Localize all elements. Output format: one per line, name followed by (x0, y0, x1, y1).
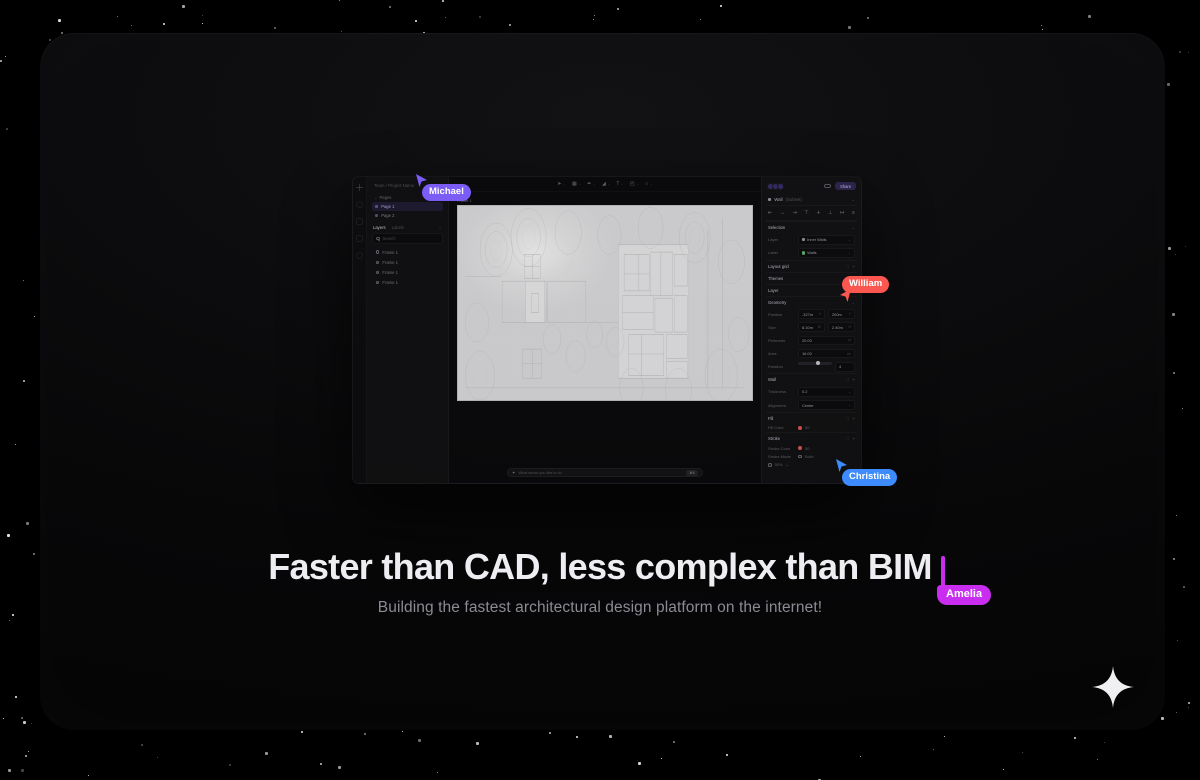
page-item-label: Page 1 (381, 204, 394, 209)
star (157, 757, 158, 758)
layer-swatch (802, 238, 805, 241)
search-icon (376, 237, 380, 241)
chevron-down-icon: ⌄ (848, 238, 851, 242)
field-area[interactable]: Area 16.00 m² (766, 347, 857, 360)
avatar-group[interactable] (767, 183, 784, 190)
chevron-down-icon[interactable]: ⌄ (786, 462, 789, 467)
field-value[interactable]: Inner Walls ⌄ (798, 235, 855, 245)
add-icon[interactable] (356, 184, 363, 191)
align-bottom-icon[interactable]: ⊥ (828, 210, 832, 216)
section-title: Themes (768, 276, 783, 281)
star (617, 8, 619, 10)
star (341, 31, 342, 32)
star (638, 762, 641, 765)
star (6, 128, 8, 130)
star (202, 23, 203, 24)
move-icon: ➤ (557, 182, 561, 187)
star (59, 21, 60, 22)
image-icon: ◰ (630, 182, 635, 187)
star (26, 522, 29, 525)
star (364, 733, 366, 735)
grid-options-icon[interactable]: ∷ (846, 377, 849, 382)
field-value[interactable]: Walls ⌄ (798, 248, 855, 258)
perimeter-input[interactable]: 20.00 m (798, 336, 855, 346)
star (476, 742, 479, 745)
object-title: Wall (774, 197, 782, 202)
chevron-down-icon: ⌄ (636, 182, 639, 186)
share-button[interactable]: Share (835, 182, 856, 190)
star (415, 20, 417, 22)
star (1168, 247, 1171, 250)
star (15, 444, 16, 445)
text-icon: T (616, 182, 619, 187)
comment-icon: ○ (645, 182, 648, 187)
section-title: Layer (768, 288, 778, 293)
align-center-h-icon[interactable]: ↔ (780, 210, 785, 216)
page-item-2[interactable]: Page 2 (372, 211, 443, 220)
section-title: Stroke (768, 436, 780, 441)
page-icon (375, 205, 378, 208)
list-item[interactable]: Frame 1 (372, 267, 443, 277)
section-title: Selection (768, 225, 785, 230)
panel-tabs: Layers Labels ⌄ (373, 225, 442, 230)
align-right-icon[interactable]: ⇥ (792, 210, 796, 216)
chevron-down-icon: ⌄ (563, 182, 566, 186)
field-label: Label (768, 250, 798, 255)
frame-icon (376, 261, 379, 264)
star (933, 749, 934, 750)
image-tool[interactable]: ◰⌄ (630, 182, 639, 187)
cursor-christina: Christina (835, 458, 849, 479)
field-rotation[interactable]: Rotation 4 (766, 360, 857, 373)
star (389, 6, 391, 8)
right-panel-header: Share (766, 181, 857, 194)
star (141, 744, 143, 746)
field-label: Rotation (768, 364, 798, 369)
star (576, 736, 578, 738)
star (131, 25, 132, 26)
field-unit: H (849, 325, 851, 329)
frame-label: Frame 1 (457, 198, 753, 203)
star (479, 16, 481, 18)
star (1175, 254, 1176, 255)
field-value-text: 0.2 (802, 389, 807, 394)
chevron-down-icon: ⌄ (607, 182, 610, 186)
section-title: Fill (768, 416, 773, 421)
star (609, 735, 612, 738)
target-icon[interactable] (356, 201, 363, 208)
rotation-input[interactable]: 4 (835, 362, 855, 372)
layer-label: Frame 1 (382, 270, 398, 275)
star (944, 736, 945, 737)
hero-copy: Faster than CAD, less complex than BIM B… (0, 546, 1200, 617)
selected-object-header[interactable]: Wall (Subset) ⌄ (766, 194, 857, 206)
field-label: Fill Color (768, 425, 798, 430)
star (1042, 29, 1043, 30)
field-unit: Y (849, 312, 851, 316)
label-swatch (802, 251, 805, 254)
star (720, 5, 722, 7)
field-value-text: 2.40m (832, 325, 843, 330)
star (23, 380, 25, 382)
star (202, 15, 203, 16)
star (867, 17, 869, 19)
section-selection-header[interactable]: Selection ⌄ (766, 221, 857, 233)
cursor-label-amelia: Amelia (937, 585, 991, 605)
star (320, 763, 322, 765)
star (61, 32, 63, 34)
star (1188, 702, 1190, 704)
field-fill-color[interactable]: Fill Color 50 (766, 424, 857, 432)
search-placeholder: Search (383, 236, 396, 241)
frame-icon: ▦ (572, 182, 577, 187)
fill-opacity-value: 50 (805, 425, 809, 430)
star (593, 19, 594, 20)
layer-label: Frame 1 (382, 280, 398, 285)
star (1041, 25, 1042, 26)
star (1176, 515, 1177, 516)
sparkle-icon: ✦ (512, 470, 516, 475)
list-item[interactable]: Frame 1 (372, 257, 443, 267)
star (445, 17, 446, 18)
star (700, 19, 701, 20)
position-y-input[interactable]: 200m Y (828, 309, 855, 319)
chevron-down-icon: ⌄ (593, 182, 596, 186)
star (1179, 51, 1181, 53)
star (23, 280, 24, 281)
alignment-toolbar: ⇤ ↔ ⇥ ⊤ ∔ ⊥ ↦ ≡ (766, 206, 857, 221)
section-tools: ∷ + (846, 436, 855, 441)
site-plan-drawing (458, 206, 752, 400)
star (21, 717, 23, 719)
star (1097, 759, 1098, 760)
avatar (777, 183, 784, 190)
field-perimeter[interactable]: Perimeter 20.00 m (766, 334, 857, 347)
thickness-input[interactable]: 0.2 ⌄ (798, 387, 855, 397)
section-title: Geometry (768, 300, 786, 305)
section-layout-grid-header[interactable]: Layout grid ∷ + (766, 260, 857, 272)
star (1182, 408, 1183, 409)
object-icon (768, 198, 771, 201)
star (301, 731, 303, 733)
field-thickness[interactable]: Thickness 0.2 ⌄ (766, 385, 857, 398)
field-unit: m² (847, 352, 851, 356)
star (117, 16, 118, 17)
star (88, 775, 89, 776)
add-icon[interactable]: + (853, 436, 855, 441)
field-unit: X (819, 312, 821, 316)
field-value-text: Center (802, 403, 814, 408)
chevron-down-icon[interactable]: ⌄ (852, 225, 855, 230)
star (594, 15, 595, 16)
cursor-label-christina: Christina (842, 469, 897, 486)
star (265, 752, 268, 755)
star (21, 769, 24, 772)
star (182, 5, 185, 8)
page-subtitle: Building the fastest architectural desig… (0, 599, 1200, 617)
star (28, 751, 29, 752)
grid-options-icon[interactable]: ∷ (846, 264, 849, 269)
align-left-icon[interactable]: ⇤ (768, 210, 772, 216)
section-title: Layout grid (768, 264, 789, 269)
toolbar: ➤⌄ ▦⌄ ✒⌄ ◢⌄ T⌄ ◰⌄ ○⌄ (449, 177, 761, 192)
field-label: Alignment (768, 403, 798, 408)
star (229, 764, 231, 766)
ai-prompt-placeholder: What would you like to do (519, 471, 562, 475)
star (442, 0, 444, 2)
add-icon[interactable]: + (853, 264, 855, 269)
star (7, 534, 10, 537)
comment-tool[interactable]: ○⌄ (645, 182, 653, 187)
align-top-icon[interactable]: ⊤ (804, 210, 808, 216)
page-item-label: Page 2 (381, 213, 394, 218)
section-tools: ∷ + (846, 416, 855, 421)
sparkle-four-point-icon (1092, 666, 1134, 708)
field-label: Thickness (768, 389, 798, 394)
canvas-viewport[interactable]: Frame 1 (449, 192, 761, 483)
star (1074, 737, 1076, 739)
field-value-text: 8.10m (802, 325, 813, 330)
chevron-down-icon: ⌄ (848, 251, 851, 255)
opacity-value: 50% (775, 462, 783, 467)
chevron-down-icon: ⌄ (848, 403, 851, 407)
list-item[interactable]: Frame 1 (372, 247, 443, 257)
chevron-down-icon[interactable]: ⌄ (852, 300, 855, 305)
field-label: Size (768, 325, 798, 330)
opacity-icon (768, 463, 772, 467)
field-label: Perimeter (768, 338, 798, 343)
field-unit: W (818, 325, 821, 329)
field-label: Position (768, 312, 798, 317)
list-item[interactable]: Frame 1 (372, 278, 443, 288)
frame-icon (376, 281, 379, 284)
section-title: Wall (768, 377, 776, 382)
tab-labels[interactable]: Labels (392, 225, 404, 230)
star (1185, 246, 1186, 247)
section-tools: ∷ + (846, 377, 855, 382)
ai-prompt-bar[interactable]: ✦ What would you like to do ⌘K (507, 468, 703, 477)
field-value-text: 16.00 (802, 351, 812, 356)
star (1104, 742, 1105, 743)
field-unit: m (848, 338, 851, 342)
star (15, 696, 17, 698)
prompt-shortcut-badge: ⌘K (686, 470, 698, 476)
stroke-color-swatch[interactable] (798, 446, 802, 450)
size-h-input[interactable]: 2.40m H (828, 322, 855, 332)
link-icon[interactable] (824, 184, 831, 188)
star (338, 766, 341, 769)
shape-tool[interactable]: ◢⌄ (602, 182, 610, 187)
star (58, 19, 61, 22)
pages-label: Pages (380, 195, 392, 200)
star (418, 739, 421, 742)
star (9, 620, 10, 621)
star (274, 27, 276, 29)
frame-tool[interactable]: ▦⌄ (572, 182, 581, 187)
move-tool[interactable]: ➤⌄ (557, 182, 566, 187)
tabs-chevron-icon[interactable]: ⌄ (438, 225, 442, 230)
field-label: Stroke Mode (768, 454, 798, 459)
field-value-text: 4 (839, 364, 841, 369)
frame-icon (376, 271, 379, 274)
star (402, 731, 403, 732)
help-icon[interactable] (356, 252, 363, 259)
grid-options-icon[interactable]: ∷ (846, 436, 849, 441)
rotation-slider[interactable] (798, 362, 832, 365)
star (163, 23, 165, 25)
canvas-area: ➤⌄ ▦⌄ ✒⌄ ◢⌄ T⌄ ◰⌄ ○⌄ Frame 1 (449, 177, 761, 483)
star (1003, 769, 1004, 770)
star (1022, 752, 1023, 753)
assets-icon[interactable] (356, 235, 363, 242)
text-tool[interactable]: T⌄ (616, 182, 624, 187)
star (1177, 640, 1178, 641)
pages-chevron-icon: ⌄ (374, 195, 378, 200)
star (1173, 372, 1175, 374)
object-subtitle: (Subset) (786, 197, 802, 202)
star (1172, 313, 1175, 316)
star (1188, 707, 1189, 708)
star (1176, 712, 1177, 713)
add-icon[interactable]: + (853, 416, 855, 421)
grid-options-icon[interactable]: ∷ (846, 416, 849, 421)
section-wall-header[interactable]: Wall ∷ + (766, 373, 857, 385)
layer-label: Frame 1 (382, 250, 398, 255)
page-title: Faster than CAD, less complex than BIM (268, 546, 932, 588)
distribute-h-icon[interactable]: ↦ (840, 210, 844, 216)
stroke-mode-value: Solid (805, 454, 814, 459)
chevron-down-icon: ⌄ (578, 182, 581, 186)
chevron-down-icon: ⌄ (848, 390, 851, 394)
field-alignment[interactable]: Alignment Center ⌄ (766, 398, 857, 411)
stroke-mode-icon (798, 455, 802, 459)
star (437, 772, 438, 773)
stroke-opacity-value: 50 (805, 446, 809, 451)
section-stroke-header[interactable]: Stroke ∷ + (766, 432, 857, 444)
app-mockup: Team / Project Name ⌄ Pages + Page 1 Pag… (352, 176, 862, 484)
star (860, 756, 861, 757)
cursor-michael: Michael (415, 173, 429, 194)
star (3, 718, 4, 719)
field-value-text: -327m (802, 312, 813, 317)
star (726, 754, 728, 756)
field-position[interactable]: Position -327m X 200m Y (766, 308, 857, 321)
star (673, 741, 675, 743)
field-value-text: 20.00 (802, 338, 812, 343)
star (661, 758, 662, 759)
add-icon[interactable]: + (853, 377, 855, 382)
shape-icon: ◢ (602, 182, 606, 187)
field-stroke-color[interactable]: Stroke Color 50 (766, 444, 857, 452)
page-icon (375, 214, 378, 217)
right-panel: Share Wall (Subset) ⌄ ⇤ ↔ ⇥ ⊤ ∔ ⊥ ↦ ≡ Se… (761, 177, 861, 483)
field-label-select[interactable]: Label Walls ⌄ (766, 246, 857, 259)
field-size[interactable]: Size 8.10m W 2.40m H (766, 321, 857, 334)
field-label: Stroke Color (768, 446, 798, 451)
star (1188, 52, 1189, 53)
star (8, 769, 11, 772)
chevron-down-icon: ⌄ (650, 182, 653, 186)
area-input[interactable]: 16.00 m² (798, 349, 855, 359)
star (1167, 83, 1170, 86)
section-fill-header[interactable]: Fill ∷ + (766, 412, 857, 424)
star (1088, 15, 1091, 18)
star (0, 60, 2, 62)
pen-icon: ✒ (587, 182, 591, 187)
size-w-input[interactable]: 8.10m W (798, 322, 825, 332)
left-panel: Team / Project Name ⌄ Pages + Page 1 Pag… (367, 177, 449, 483)
field-value-text: Walls (807, 250, 816, 255)
layer-label: Frame 1 (382, 260, 398, 265)
architectural-site-plan[interactable] (457, 205, 753, 401)
section-tools: ∷ + (846, 264, 855, 269)
star (1161, 717, 1164, 720)
star (339, 0, 340, 1)
fill-color-swatch[interactable] (798, 426, 802, 430)
field-label: Area (768, 351, 798, 356)
align-middle-v-icon[interactable]: ∔ (816, 210, 820, 216)
star (549, 732, 551, 734)
star (25, 755, 27, 757)
chevron-down-icon[interactable]: ⌄ (851, 197, 855, 203)
field-value-text: Inner Walls (807, 237, 826, 242)
star (848, 26, 851, 29)
distribute-v-icon[interactable]: ≡ (852, 210, 855, 216)
field-layer[interactable]: Layer Inner Walls ⌄ (766, 233, 857, 246)
star (509, 24, 511, 26)
star (31, 723, 32, 724)
page-item-1[interactable]: Page 1 (372, 202, 443, 211)
frame-icon (376, 250, 379, 253)
position-x-input[interactable]: -327m X (798, 309, 825, 319)
cursor-label-william: William (842, 276, 889, 293)
alignment-select[interactable]: Center ⌄ (798, 400, 855, 410)
hero-card: Team / Project Name ⌄ Pages + Page 1 Pag… (40, 33, 1165, 730)
icon-rail (353, 177, 367, 483)
field-label: Layer (768, 237, 798, 242)
tab-layers[interactable]: Layers (373, 225, 386, 230)
components-icon[interactable] (356, 218, 363, 225)
chevron-down-icon: ⌄ (621, 182, 624, 186)
search-input[interactable]: Search (372, 233, 443, 244)
star (5, 56, 6, 57)
star (23, 721, 26, 724)
field-value-text: 200m (832, 312, 842, 317)
star (34, 316, 35, 317)
cursor-label-michael: Michael (422, 184, 471, 201)
pen-tool[interactable]: ✒⌄ (587, 182, 596, 187)
